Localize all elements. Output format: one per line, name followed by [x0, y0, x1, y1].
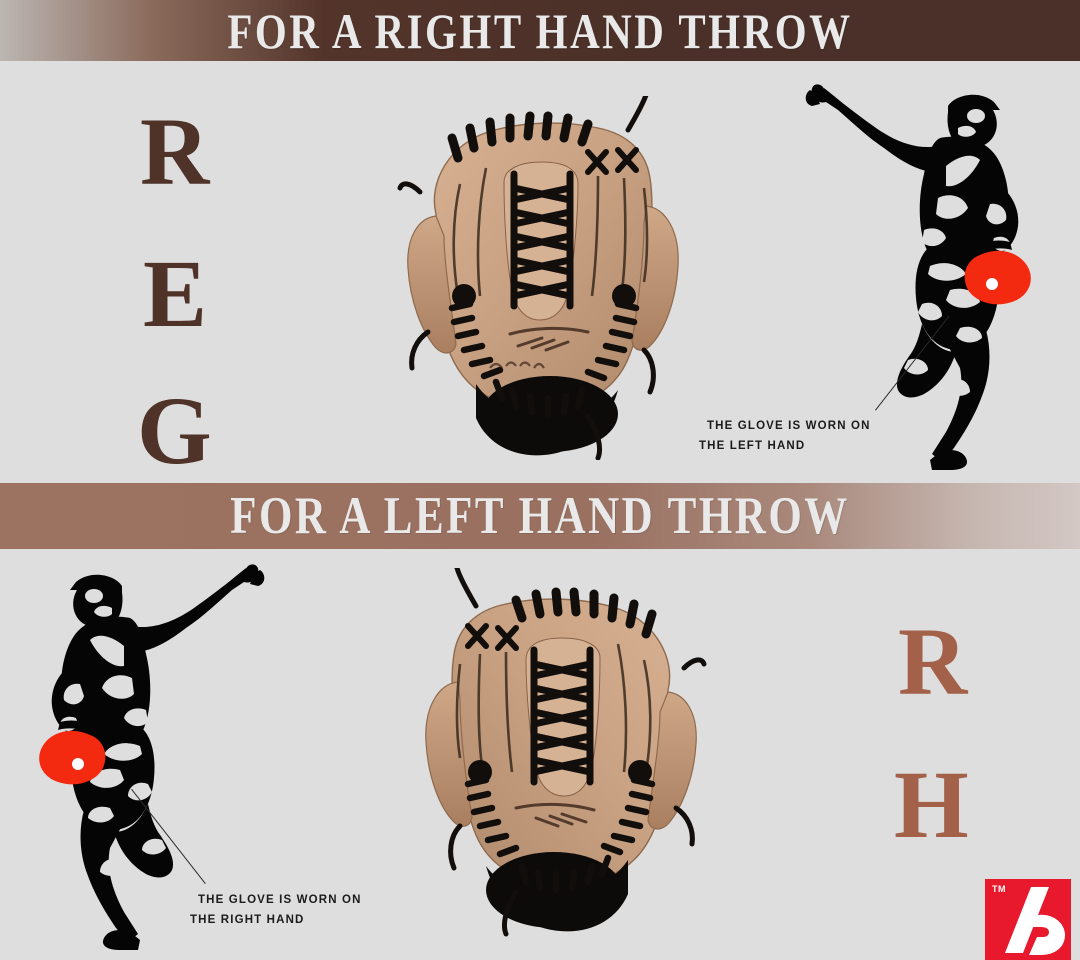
- letter-rh-r: R: [898, 614, 967, 710]
- banner-left-hand-throw: FOR A LEFT HAND THROW: [0, 483, 1080, 549]
- glove-highlight: [965, 251, 1031, 304]
- baseball-glove-right-hand-throw: [392, 96, 692, 460]
- brand-logo: TM: [985, 879, 1071, 960]
- glove-highlight-hole: [72, 758, 84, 770]
- glove-knot-left: [628, 760, 652, 784]
- letter-reg-e: E: [143, 246, 207, 342]
- letter-reg-r: R: [140, 104, 209, 200]
- letter-reg-g: G: [137, 383, 212, 479]
- glove-knot-right: [612, 284, 636, 308]
- caption-bottom-line1: THE GLOVE IS WORN ON: [198, 894, 362, 906]
- glove-highlight: [39, 731, 105, 784]
- letter-rh-h: H: [894, 757, 969, 853]
- glove-highlight-hole: [986, 278, 998, 290]
- caption-bottom-line2: THE RIGHT HAND: [190, 910, 362, 930]
- banner-right-hand-throw: FOR A RIGHT HAND THROW: [0, 0, 1080, 61]
- banner-bottom-label: FOR A LEFT HAND THROW: [230, 486, 850, 546]
- baseball-glove-left-hand-throw: [412, 568, 712, 940]
- caption-right-hand: THE GLOVE IS WORN ON THE RIGHT HAND: [198, 890, 362, 930]
- right-hand-thrower-silhouette: [800, 80, 1040, 470]
- caption-left-hand: THE GLOVE IS WORN ON THE LEFT HAND: [707, 416, 871, 456]
- caption-top-line1: THE GLOVE IS WORN ON: [707, 420, 871, 432]
- caption-top-line2: THE LEFT HAND: [699, 436, 871, 456]
- glove-knot-left: [452, 284, 476, 308]
- glove-knot-right: [468, 760, 492, 784]
- banner-top-label: FOR A RIGHT HAND THROW: [227, 1, 852, 60]
- barnett-logo-mark: [985, 879, 1071, 960]
- infographic-canvas: FOR A RIGHT HAND THROW R E G: [0, 0, 1080, 960]
